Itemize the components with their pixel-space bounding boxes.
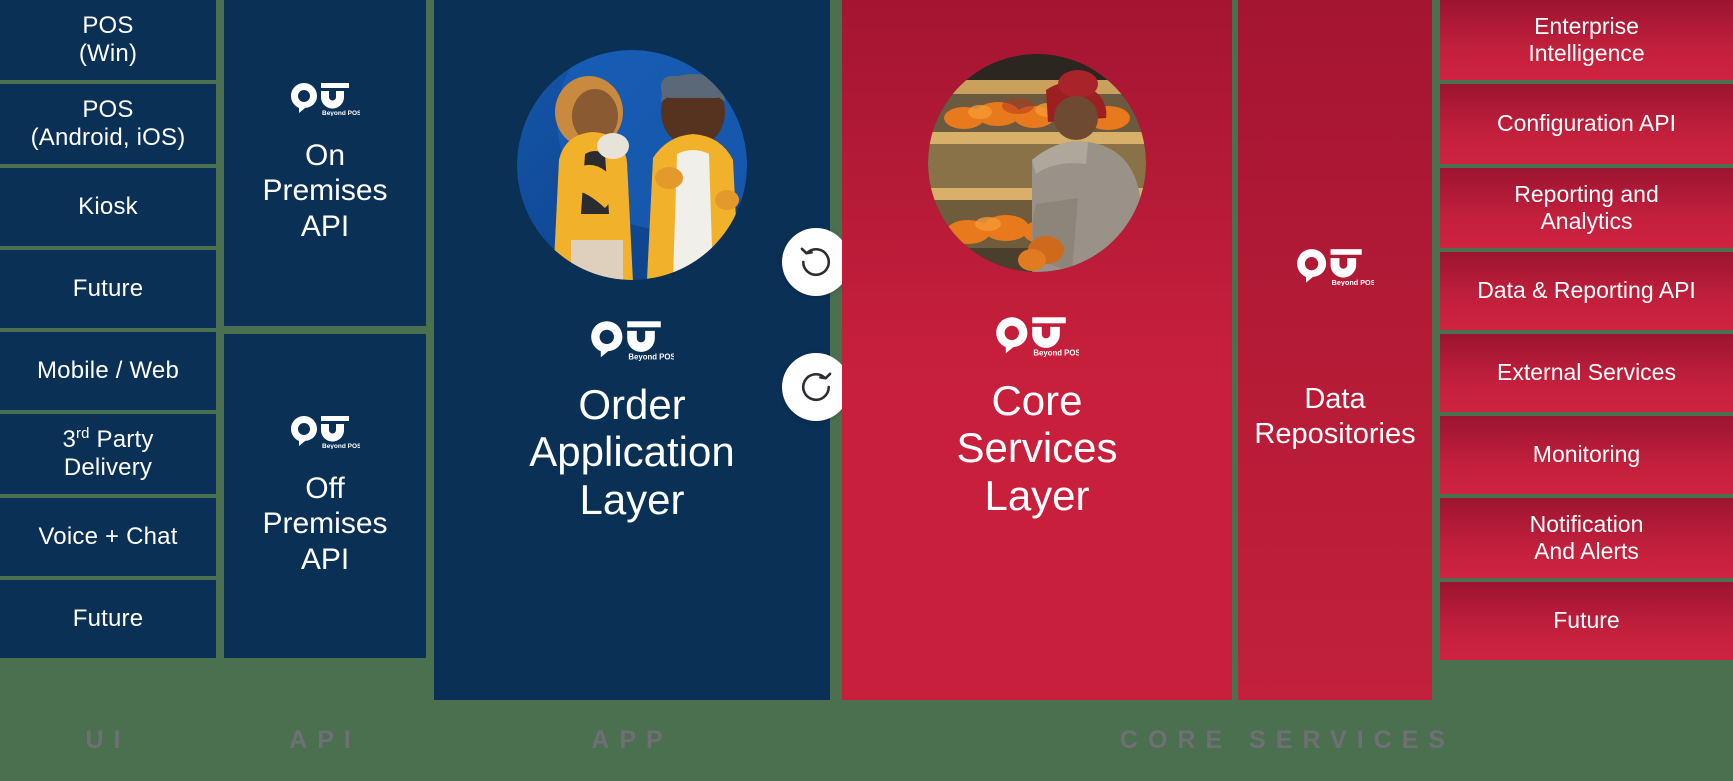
ui-item-voice-chat[interactable]: Voice + Chat xyxy=(0,498,216,576)
logo-tagline: Beyond POS xyxy=(322,110,360,116)
ui-item-label: Voice + Chat xyxy=(38,523,177,551)
ui-item-label: 3rd Party xyxy=(62,426,153,454)
footer-label-core-services: CORE SERVICES xyxy=(842,700,1733,781)
logo-tagline: Beyond POS xyxy=(322,443,360,449)
architecture-diagram: POS (Win) POS (Android, iOS) Kiosk Futur… xyxy=(0,0,1733,781)
core-services-list: Enterprise Intelligence Configuration AP… xyxy=(1440,0,1733,700)
service-chip-future[interactable]: Future xyxy=(1440,582,1733,660)
service-chip-reporting-analytics[interactable]: Reporting and Analytics xyxy=(1440,168,1733,248)
api-card-caption: On Premises API xyxy=(262,138,387,244)
ui-item-pos-win[interactable]: POS (Win) xyxy=(0,0,216,80)
ui-item-label: Kiosk xyxy=(78,193,138,221)
ui-item-label: Future xyxy=(73,275,144,303)
ui-item-label: POS xyxy=(79,12,137,40)
ui-item-mobile-web[interactable]: Mobile / Web xyxy=(0,332,216,410)
qu-beyond-pos-logo: Beyond POS xyxy=(290,415,360,449)
ui-item-label: POS xyxy=(31,96,186,124)
api-column: Beyond POS On Premises API Beyond POS Of… xyxy=(224,0,426,700)
ui-item-future-bottom[interactable]: Future xyxy=(0,580,216,658)
ui-item-label: Future xyxy=(73,605,144,633)
footer-label-api: API xyxy=(224,700,426,781)
app-column[interactable]: Beyond POS Order Application Layer xyxy=(434,0,830,700)
qu-beyond-pos-logo: Beyond POS xyxy=(995,316,1079,357)
service-chip-data-reporting-api[interactable]: Data & Reporting API xyxy=(1440,252,1733,330)
qu-beyond-pos-logo: Beyond POS xyxy=(1296,248,1374,286)
qu-beyond-pos-logo: Beyond POS xyxy=(290,82,360,116)
ui-item-kiosk[interactable]: Kiosk xyxy=(0,168,216,246)
core-services-column[interactable]: Beyond POS Core Services Layer xyxy=(842,0,1232,700)
ui-column: POS (Win) POS (Android, iOS) Kiosk Futur… xyxy=(0,0,216,700)
service-chip-configuration-api[interactable]: Configuration API xyxy=(1440,84,1733,164)
logo-tagline: Beyond POS xyxy=(1332,278,1374,286)
service-chip-monitoring[interactable]: Monitoring xyxy=(1440,416,1733,494)
rotate-clockwise-icon[interactable] xyxy=(782,353,850,421)
ui-item-label: Mobile / Web xyxy=(37,357,179,385)
api-card-off-premises[interactable]: Beyond POS Off Premises API xyxy=(224,334,426,658)
app-layer-title: Order Application Layer xyxy=(529,381,734,523)
logo-tagline: Beyond POS xyxy=(628,353,674,361)
data-repositories-column[interactable]: Beyond POS Data Repositories xyxy=(1238,0,1432,700)
footer-label-ui: UI xyxy=(0,700,216,781)
two-people-eating-photo xyxy=(517,50,747,280)
data-repositories-title: Data Repositories xyxy=(1254,382,1415,452)
service-chip-external-services[interactable]: External Services xyxy=(1440,334,1733,412)
service-chip-enterprise-intelligence[interactable]: Enterprise Intelligence xyxy=(1440,0,1733,80)
ui-item-sublabel: Delivery xyxy=(62,454,153,482)
ui-item-sublabel: (Win) xyxy=(79,40,137,68)
api-card-on-premises[interactable]: Beyond POS On Premises API xyxy=(224,0,426,326)
service-chip-notification-alerts[interactable]: Notification And Alerts xyxy=(1440,498,1733,578)
core-layer-title: Core Services Layer xyxy=(956,377,1117,519)
qu-beyond-pos-logo: Beyond POS xyxy=(590,320,674,361)
api-card-caption: Off Premises API xyxy=(262,471,387,577)
logo-tagline: Beyond POS xyxy=(1033,349,1079,357)
rotate-counterclockwise-icon[interactable] xyxy=(782,228,850,296)
ui-item-pos-android-ios[interactable]: POS (Android, iOS) xyxy=(0,84,216,164)
ui-item-future-top[interactable]: Future xyxy=(0,250,216,328)
footer-label-app: APP xyxy=(434,700,830,781)
kitchen-worker-photo xyxy=(928,54,1146,272)
ui-item-sublabel: (Android, iOS) xyxy=(31,124,186,152)
ui-item-3rd-party-delivery[interactable]: 3rd Party Delivery xyxy=(0,414,216,494)
